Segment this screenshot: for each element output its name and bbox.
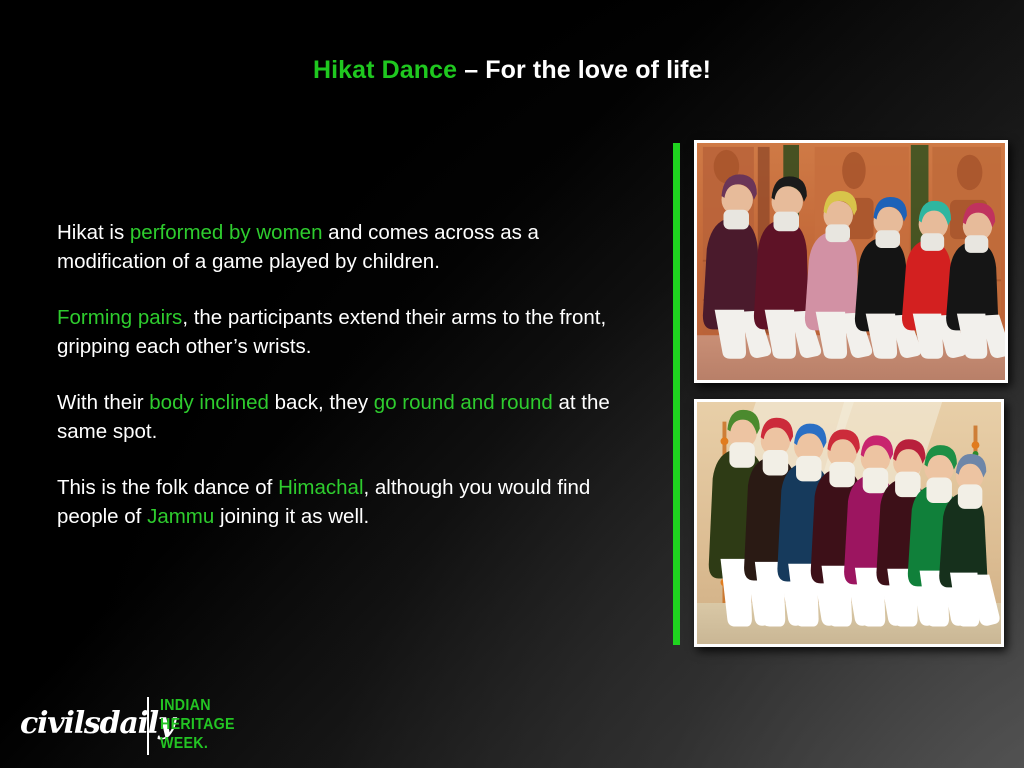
body-highlight-text: Himachal bbox=[278, 476, 363, 499]
green-accent-bar bbox=[673, 143, 680, 645]
hikat-dancers-temple-photo bbox=[694, 140, 1008, 383]
body-plain-text: back, they bbox=[269, 391, 374, 414]
body-highlight-text: Forming pairs bbox=[57, 306, 182, 329]
body-paragraph: Forming pairs, the participants extend t… bbox=[57, 303, 642, 361]
temple-photo-artwork bbox=[697, 143, 1005, 381]
stage-photo-artwork bbox=[697, 402, 1001, 645]
body-text-block: Hikat is performed by women and comes ac… bbox=[57, 218, 642, 531]
body-plain-text: This is the folk dance of bbox=[57, 476, 278, 499]
body-paragraph: With their body inclined back, they go r… bbox=[57, 388, 642, 446]
civilsdaily-wordmark: civilsdaily bbox=[20, 706, 174, 741]
tagline-line: INDIAN bbox=[160, 696, 235, 715]
body-highlight-text: go round and round bbox=[374, 391, 553, 414]
body-plain-text: With their bbox=[57, 391, 149, 414]
page-title-dash: – bbox=[457, 56, 485, 84]
tagline-line: HERITAGE bbox=[160, 715, 235, 734]
body-highlight-text: Jammu bbox=[147, 505, 214, 528]
body-highlight-text: performed by women bbox=[130, 221, 323, 244]
body-plain-text: joining it as well. bbox=[214, 505, 369, 528]
page-title-rest: For the love of life! bbox=[485, 56, 711, 84]
body-highlight-text: body inclined bbox=[149, 391, 269, 414]
tagline-line: WEEK. bbox=[160, 734, 235, 753]
hikat-dancers-stage-photo bbox=[694, 399, 1004, 647]
page-title: Hikat Dance – For the love of life! bbox=[0, 56, 1024, 85]
slide-canvas: Hikat Dance – For the love of life! Hika… bbox=[0, 0, 1024, 768]
body-paragraph: This is the folk dance of Himachal, alth… bbox=[57, 473, 642, 531]
body-plain-text: Hikat is bbox=[57, 221, 130, 244]
page-title-highlight: Hikat Dance bbox=[313, 56, 457, 84]
brand-logo[interactable]: civilsdaily INDIANHERITAGEWEEK. bbox=[20, 694, 260, 758]
body-paragraph: Hikat is performed by women and comes ac… bbox=[57, 218, 642, 276]
indian-heritage-week-tagline: INDIANHERITAGEWEEK. bbox=[160, 696, 235, 753]
logo-divider bbox=[147, 697, 149, 755]
